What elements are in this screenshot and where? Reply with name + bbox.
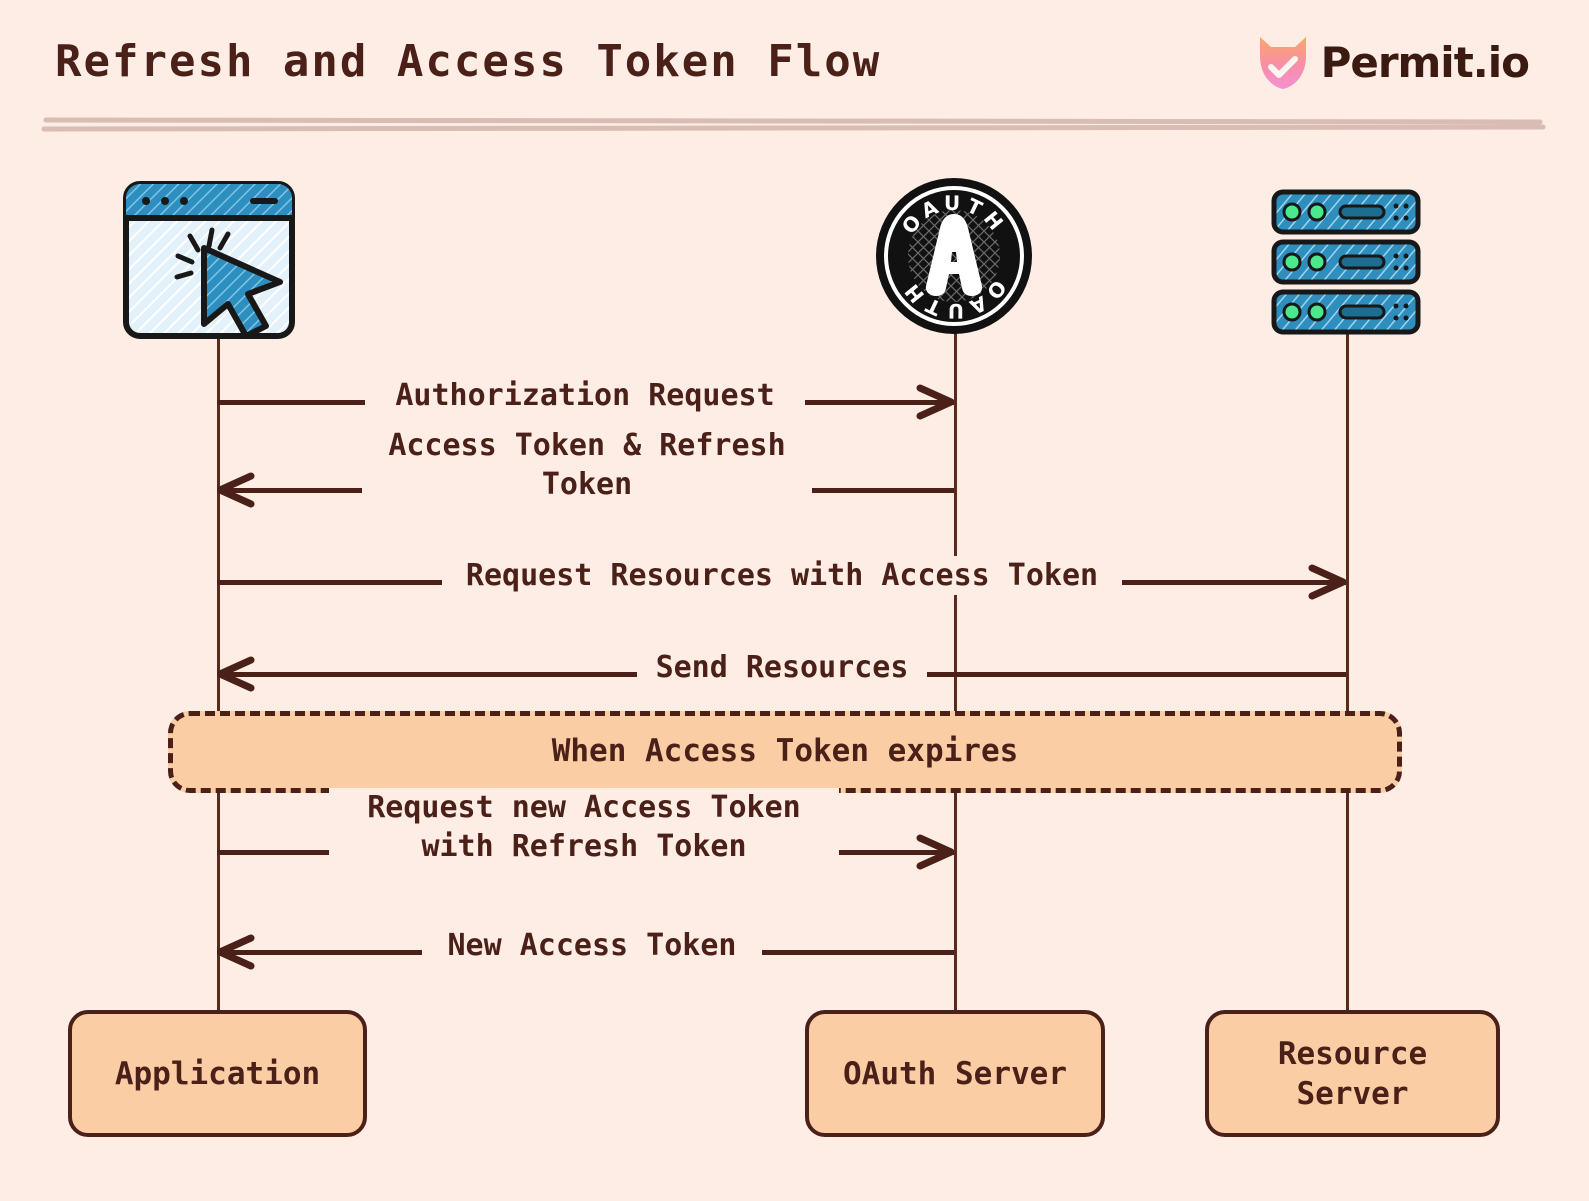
arrowhead-left-icon [217, 933, 255, 971]
message-label: Request new Access Token with Refresh To… [329, 788, 839, 866]
arrowhead-right-icon [1308, 563, 1346, 601]
actor-box-resource-server[interactable]: Resource Server [1205, 1010, 1500, 1137]
message-label: Access Token & Refresh Token [362, 426, 812, 504]
arrowhead-left-icon [217, 471, 255, 509]
message-label: Send Resources [637, 648, 927, 687]
arrowhead-left-icon [217, 655, 255, 693]
header-divider [0, 112, 1589, 136]
brand-name: Permit.io [1321, 38, 1529, 87]
header: Refresh and Access Token Flow Permit.io [0, 0, 1589, 140]
brand-logo: Permit.io [1257, 34, 1529, 90]
actor-box-application[interactable]: Application [68, 1010, 367, 1137]
actor-label: Application [115, 1054, 320, 1094]
page-title: Refresh and Access Token Flow [55, 36, 881, 87]
actor-label: OAuth Server [843, 1054, 1067, 1094]
lifeline-resource-server [1346, 330, 1349, 1020]
arrowhead-right-icon [916, 383, 954, 421]
note-label: When Access Token expires [168, 733, 1402, 769]
diagram-canvas: Refresh and Access Token Flow Permit.io [0, 0, 1589, 1201]
message-label: Authorization Request [365, 376, 805, 415]
message-label: Request Resources with Access Token [442, 556, 1122, 595]
message-label: New Access Token [422, 926, 762, 965]
browser-cursor-icon [120, 178, 300, 348]
oauth-badge-icon: OAUTH OAUTH [874, 176, 1034, 336]
permit-cat-shield-icon [1257, 34, 1309, 90]
actor-box-oauth-server[interactable]: OAuth Server [805, 1010, 1105, 1137]
server-rack-icon [1270, 188, 1422, 336]
arrowhead-right-icon [916, 833, 954, 871]
actor-label: Resource Server [1278, 1034, 1427, 1114]
